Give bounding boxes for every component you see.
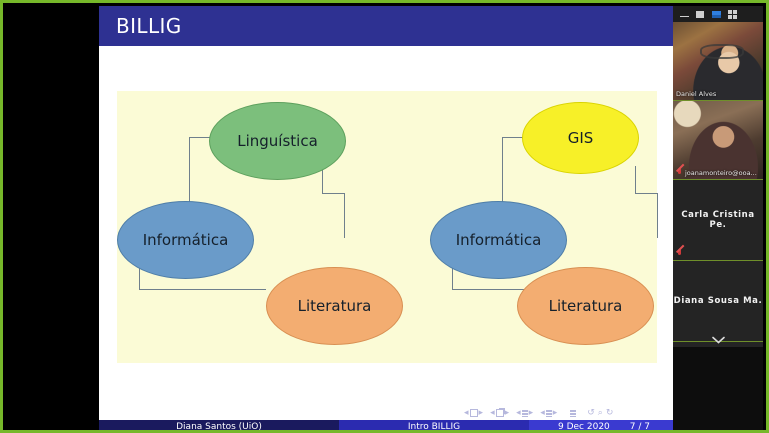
presentation-icon[interactable] (570, 410, 576, 417)
slide-current-icon[interactable] (470, 409, 478, 417)
minimize-icon[interactable] (680, 10, 689, 19)
screen-root: BILLIG (0, 0, 769, 433)
section-next-icon[interactable]: ▸ (553, 408, 558, 418)
diagram-canvas: Linguística Informática Literatura + (117, 91, 657, 363)
subsection-current-icon[interactable] (522, 410, 528, 417)
sidebar-bottom-area (673, 347, 763, 433)
slide-nav-group[interactable]: ◂ ▸ (464, 408, 483, 418)
frame-prev-icon[interactable]: ◂ (490, 408, 495, 418)
participant-tile-name[interactable]: Carla Cristina Pe. (673, 180, 763, 261)
status-page: 7 / 7 (630, 422, 650, 432)
node-label: Literatura (298, 297, 372, 315)
node-literatura-right[interactable]: Literatura (517, 267, 654, 345)
chevron-down-icon (712, 336, 725, 344)
node-label: Linguística (237, 132, 318, 150)
node-label: Informática (143, 231, 229, 249)
participant-name: joanamonteiro@ooa... (685, 169, 757, 177)
maximize-icon[interactable] (696, 10, 705, 19)
view-active-icon[interactable] (712, 10, 721, 19)
page-title: BILLIG (116, 14, 182, 38)
mic-muted-icon (676, 249, 683, 258)
node-literatura-left[interactable]: Literatura (266, 267, 403, 345)
section-current-icon[interactable] (546, 410, 552, 417)
presentation-slide: BILLIG (99, 6, 679, 433)
node-informatica-left[interactable]: Informática (117, 201, 254, 279)
letterbox-left (6, 6, 99, 433)
expand-participants-button[interactable] (673, 333, 763, 347)
beamer-navigation-bar[interactable]: ◂ ▸ ◂ ▸ ◂ ▸ ◂ ▸ ↺ ⌕ ↻ (464, 406, 664, 420)
search-icon[interactable]: ⌕ (598, 408, 603, 418)
frame-current-icon[interactable] (496, 409, 504, 417)
window-controls (673, 6, 763, 22)
connector-linguistica-literatura (322, 166, 344, 238)
status-author: Diana Santos (UiO) (99, 420, 339, 433)
participant-name: Diana Sousa Ma. (674, 296, 763, 306)
subsection-next-icon[interactable]: ▸ (529, 408, 534, 418)
status-date: 9 Dec 2020 (558, 422, 610, 432)
meeting-sidebar: Daniel Alves joanamonteiro@ooa... Carla … (673, 6, 763, 433)
forward-icon[interactable]: ↻ (606, 408, 614, 418)
section-prev-icon[interactable]: ◂ (540, 408, 545, 418)
node-gis[interactable]: GIS (522, 102, 639, 174)
grid-view-icon[interactable] (728, 10, 737, 19)
status-date-page: 9 Dec 2020 7 / 7 (529, 420, 679, 433)
subsection-nav-group[interactable]: ◂ ▸ (516, 408, 533, 418)
slide-prev-icon[interactable]: ◂ (464, 408, 469, 418)
node-informatica-right[interactable]: Informática (430, 201, 567, 279)
participant-tile-video[interactable]: Daniel Alves (673, 22, 763, 101)
participant-tile-video[interactable]: joanamonteiro@ooa... (673, 101, 763, 180)
node-label: Informática (456, 231, 542, 249)
participant-name: Carla Cristina Pe. (673, 210, 763, 230)
slide-status-bar: Diana Santos (UiO) Intro BILLIG 9 Dec 20… (99, 420, 679, 433)
node-linguistica[interactable]: Linguística (209, 102, 346, 180)
node-label: GIS (568, 129, 594, 147)
slide-next-icon[interactable]: ▸ (479, 408, 484, 418)
status-title: Intro BILLIG (339, 420, 529, 433)
frame-next-icon[interactable]: ▸ (505, 408, 510, 418)
slide-title-bar: BILLIG (99, 6, 679, 46)
section-nav-group[interactable]: ◂ ▸ (540, 408, 557, 418)
subsection-prev-icon[interactable]: ◂ (516, 408, 521, 418)
participant-tile-name[interactable]: Diana Sousa Ma. (673, 261, 763, 342)
node-label: Literatura (549, 297, 623, 315)
back-icon[interactable]: ↺ (587, 408, 595, 418)
connector-gis-literatura (635, 166, 657, 238)
participant-name: Daniel Alves (676, 90, 716, 98)
frame-nav-group[interactable]: ◂ ▸ (490, 408, 509, 418)
mic-muted-icon (676, 168, 683, 177)
